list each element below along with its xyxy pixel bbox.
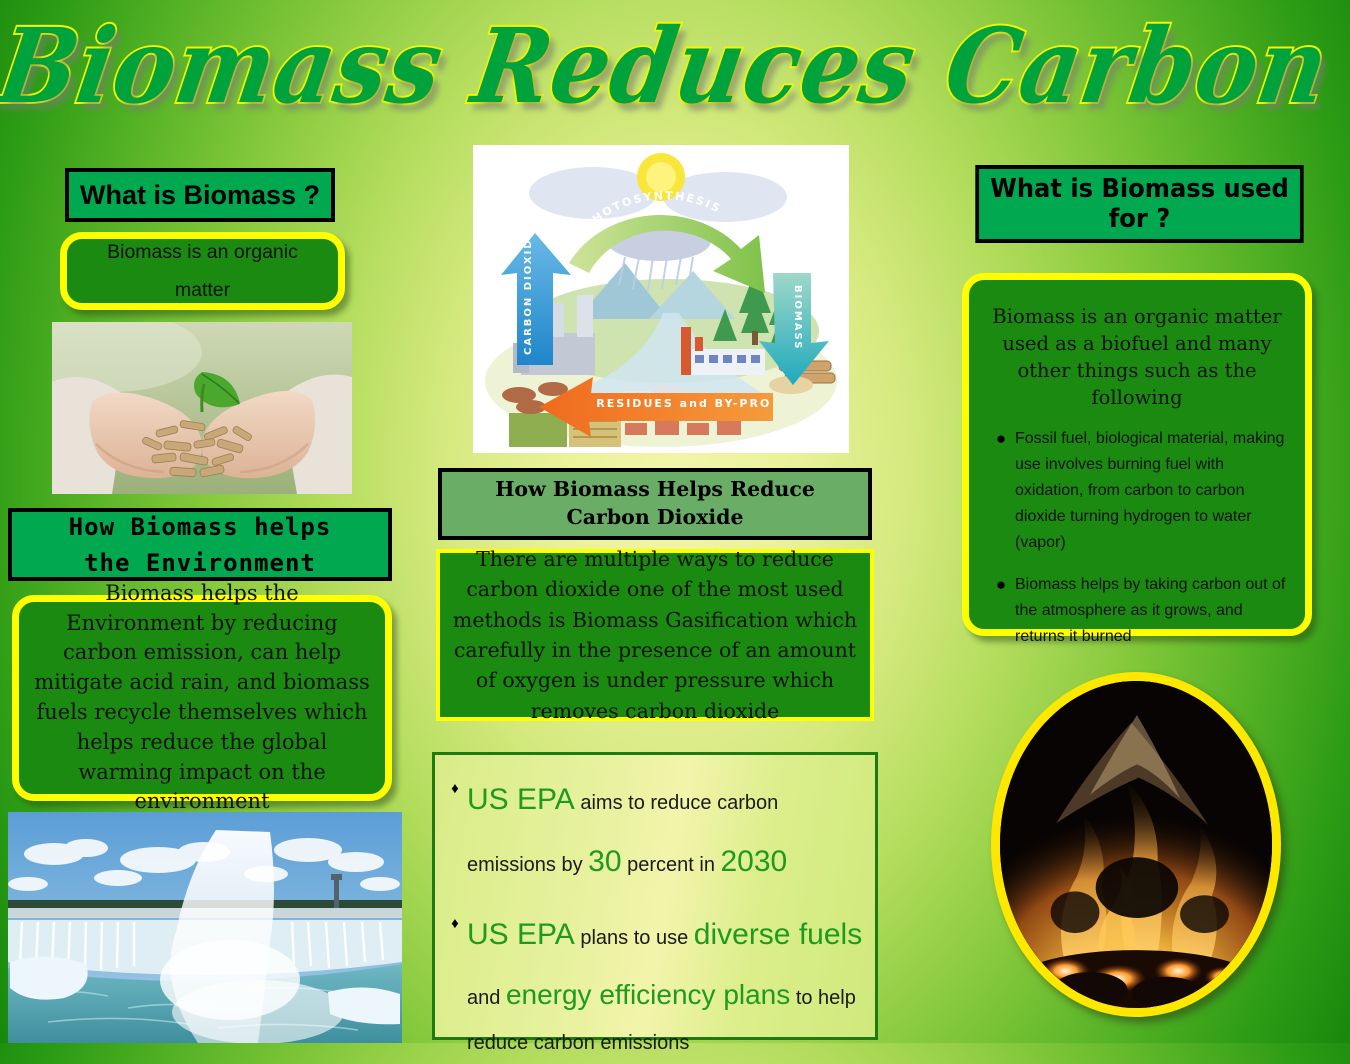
section-header-how-biomass-reduces-co2: How Biomass Helps Reduce Carbon Dioxide [438,468,872,540]
round-bullet-icon: ● [987,572,1015,598]
gasification-text: There are multiple ways to reduce carbon… [452,544,858,726]
poster-title-area: Biomass Reduces Carbon Dioxide [0,4,1350,134]
epa-fact-1: US EPA aims to reduce carbon emissions b… [467,769,865,892]
round-bullet-icon: ● [987,426,1015,452]
image-niagara-falls-winter [8,812,402,1043]
epa-2-body-b: and [467,987,506,1009]
biomass-uses-box: Biomass is an organic matter used as a b… [962,273,1312,636]
biomass-use-2: Biomass helps by taking carbon out of th… [1015,572,1291,650]
epa-2-agency: US EPA [467,918,575,951]
hands-pellets-illustration [52,322,352,494]
biomass-definition-text: Biomass is an organic matter [79,233,326,309]
epa-facts-box: ♦ US EPA aims to reduce carbon emissions… [432,752,878,1040]
label-biomass: BIOMASS [792,285,803,351]
diamond-bullet-icon: ♦ [443,904,467,933]
fire-illustration [1000,681,1272,1008]
epa-1-agency: US EPA [467,783,575,816]
list-item: ♦ US EPA aims to reduce carbon emissions… [443,769,865,892]
epa-1-percent: 30 [588,845,621,878]
list-item: ● Fossil fuel, biological material, maki… [987,426,1291,556]
section-header-how-biomass-helps-environment: How Biomass helps the Environment [8,508,392,581]
waterfall-illustration [8,812,402,1043]
epa-2-body-a: plans to use [575,927,694,949]
biomass-use-1: Fossil fuel, biological material, making… [1015,426,1291,556]
label-carbon-dioxide: CARBON DIOXIDE [523,230,534,355]
section-header-what-is-biomass: What is Biomass ? [65,168,335,222]
diamond-bullet-icon: ♦ [443,769,467,798]
epa-2-diverse-fuels: diverse fuels [694,918,862,951]
how-env-header-line2: the Environment [69,545,332,581]
epa-fact-2: US EPA plans to use diverse fuels and en… [467,904,865,1064]
carbon-cycle-illustration: PHOTOSYNTHESIS RESIDUES and BY-PRODUCTS … [473,145,849,453]
image-hands-with-wood-pellets [52,322,352,494]
biomass-definition-box: Biomass is an organic matter [60,232,345,310]
environment-text: Biomass helps the Environment by reducin… [33,579,371,818]
page-title: Biomass Reduces Carbon Dioxide [0,0,1350,135]
epa-1-year: 2030 [721,845,788,878]
epa-2-energy-efficiency: energy efficiency plans [506,979,790,1010]
how-env-header-line1: How Biomass helps [69,509,332,545]
list-item: ● Biomass helps by taking carbon out of … [987,572,1291,650]
environment-text-box: Biomass helps the Environment by reducin… [12,595,392,801]
gasification-text-box: There are multiple ways to reduce carbon… [436,549,874,721]
epa-1-body-c: percent in [622,854,721,876]
biomass-uses-intro: Biomass is an organic matter used as a b… [987,304,1287,412]
image-biomass-carbon-cycle-diagram: PHOTOSYNTHESIS RESIDUES and BY-PRODUCTS … [473,145,849,453]
list-item: ♦ US EPA plans to use diverse fuels and … [443,904,865,1064]
epa-1-body-b: by [561,854,588,876]
section-header-what-is-biomass-used-for: What is Biomass used for ? [975,165,1303,243]
image-fire-flames [991,672,1281,1017]
